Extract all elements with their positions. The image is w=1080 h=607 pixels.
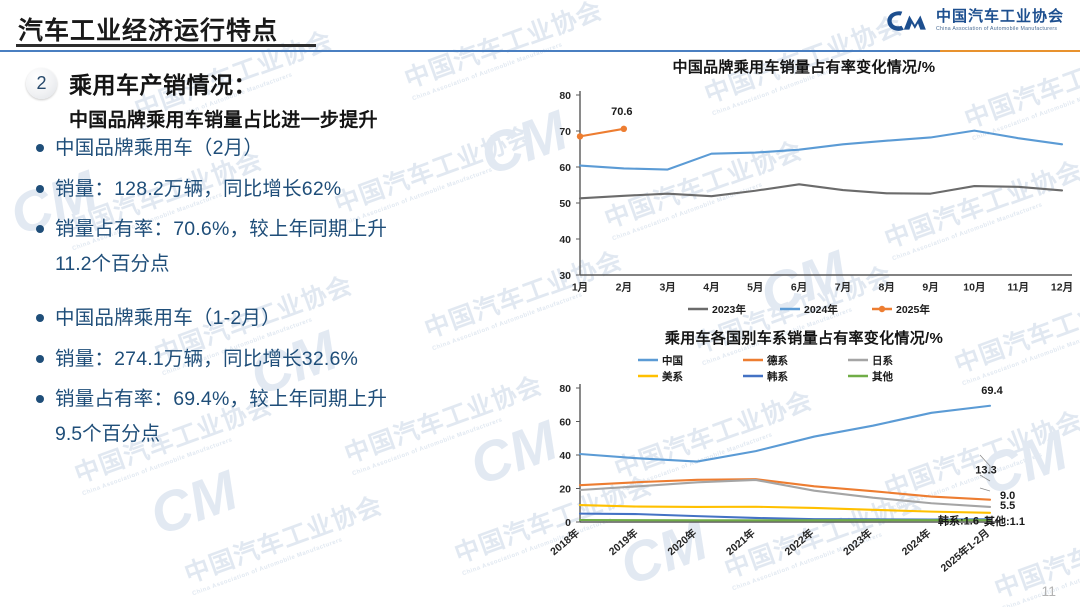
- header-rule-orange: [940, 50, 1080, 52]
- x-axis-tick-label: 7月: [835, 282, 851, 294]
- x-axis-tick-label: 2025年1-2月: [938, 526, 992, 574]
- x-axis-tick-label: 5月: [747, 282, 763, 294]
- heading-main: 乘用车产销情况：: [69, 66, 378, 100]
- x-axis-tick-label: 11月: [1007, 282, 1029, 294]
- bullet-dot-icon: [36, 144, 44, 152]
- x-axis-tick-label: 2020年: [665, 526, 700, 558]
- bullet-text: 销量：128.2万辆，同比增长62%: [55, 175, 341, 205]
- bullet-item: 中国品牌乘用车（1-2月）: [36, 304, 516, 334]
- y-axis-tick-label: 60: [559, 162, 571, 174]
- bullet-item: 中国品牌乘用车（2月）: [36, 134, 516, 164]
- bullet-continuation: 11.2个百分点: [55, 250, 516, 280]
- data-label: 其他:1.1: [984, 514, 1025, 528]
- chart-plot: 3040506070801月2月3月4月5月6月7月8月9月10月11月12月7…: [528, 77, 1080, 327]
- data-label: 13.3: [975, 465, 996, 477]
- bullet-dot-icon: [36, 395, 44, 403]
- legend-label-2025年: 2025年: [896, 303, 930, 316]
- data-label-leader: [980, 488, 990, 491]
- x-axis-tick-label: 10月: [963, 282, 985, 294]
- bullet-group-feb: 中国品牌乘用车（2月）销量：128.2万辆，同比增长62%销量占有率：70.6%…: [36, 134, 516, 291]
- x-axis-tick-label: 2019年: [606, 526, 641, 558]
- bullet-item: 销量：274.1万辆，同比增长32.6%: [36, 345, 516, 375]
- x-axis-tick-label: 12月: [1051, 282, 1073, 294]
- series-line-美系: [580, 505, 990, 513]
- chart-country-share: 乘用车各国别车系销量占有率变化情况/% 0204060802018年2019年2…: [528, 327, 1080, 578]
- bullet-continuation: 9.5个百分点: [55, 420, 516, 450]
- legend-label-其他: 其他: [872, 370, 893, 383]
- data-label: 韩系:1.6: [938, 513, 979, 527]
- y-axis-tick-label: 20: [559, 484, 571, 496]
- chart-plot: 0204060802018年2019年2020年2021年2022年2023年2…: [528, 348, 1080, 578]
- bullet-dot-icon: [36, 225, 44, 233]
- header-rule-blue: [0, 50, 940, 52]
- series-marker-2025年: [621, 126, 627, 132]
- brand-logo: 中国汽车工业协会 China Association of Automobile…: [885, 8, 1064, 34]
- x-axis-tick-label: 8月: [879, 282, 895, 294]
- x-axis-tick-label: 2023年: [840, 526, 875, 558]
- series-line-德系: [580, 479, 990, 500]
- y-axis-tick-label: 80: [559, 383, 571, 395]
- heading-sub: 中国品牌乘用车销量占比进一步提升: [69, 105, 378, 132]
- bullet-dot-icon: [36, 185, 44, 193]
- x-axis-tick-label: 2月: [616, 282, 632, 294]
- x-axis-tick-label: 2022年: [782, 526, 817, 558]
- x-axis-tick-label: 1月: [572, 282, 588, 294]
- bullet-text: 销量占有率：70.6%，较上年同期上升: [55, 215, 387, 245]
- legend-label-德系: 德系: [766, 354, 788, 367]
- series-line-2023年: [580, 184, 1062, 198]
- charts-column: 中国品牌乘用车销量占有率变化情况/% 3040506070801月2月3月4月5…: [528, 56, 1080, 607]
- bullet-item: 销量：128.2万辆，同比增长62%: [36, 175, 516, 205]
- heading-text-wrap: 乘用车产销情况： 中国品牌乘用车销量占比进一步提升: [69, 66, 378, 132]
- x-axis-tick-label: 2024年: [899, 526, 934, 558]
- brand-name-en: China Association of Automobile Manufact…: [936, 27, 1064, 32]
- data-label: 70.6: [611, 106, 632, 118]
- caam-logo-icon: [885, 8, 929, 34]
- series-marker-2025年: [577, 133, 583, 139]
- bullet-text: 中国品牌乘用车（2月）: [55, 134, 263, 164]
- step-number-badge: 2: [26, 68, 57, 99]
- bullet-text: 销量：274.1万辆，同比增长32.6%: [55, 345, 358, 375]
- chart-title: 中国品牌乘用车销量占有率变化情况/%: [528, 56, 1080, 77]
- x-axis-tick-label: 2021年: [723, 526, 758, 558]
- y-axis-tick-label: 30: [559, 270, 571, 282]
- page-number: 11: [1041, 583, 1056, 599]
- chart-legend: 中国德系日系美系韩系其他: [638, 354, 893, 383]
- bullet-group-jan-feb: 中国品牌乘用车（1-2月）销量：274.1万辆，同比增长32.6%销量占有率：6…: [36, 304, 516, 461]
- legend-label-日系: 日系: [872, 354, 893, 367]
- bullet-text: 销量占有率：69.4%，较上年同期上升: [55, 385, 387, 415]
- data-label: 69.4: [981, 385, 1003, 397]
- legend-label-中国: 中国: [662, 354, 683, 367]
- title-underline: [16, 44, 316, 47]
- brand-text: 中国汽车工业协会 China Association of Automobile…: [936, 9, 1064, 32]
- legend-label-2023年: 2023年: [712, 303, 746, 316]
- legend-marker-2025年: [879, 306, 885, 312]
- chart-canvas: 0204060802018年2019年2020年2021年2022年2023年2…: [528, 348, 1080, 578]
- chart-legend: 2023年2024年2025年: [688, 303, 930, 316]
- y-axis-tick-label: 40: [559, 450, 571, 462]
- chart-china-brand-share: 中国品牌乘用车销量占有率变化情况/% 3040506070801月2月3月4月5…: [528, 56, 1080, 327]
- y-axis-tick-label: 80: [559, 90, 571, 102]
- chart-title: 乘用车各国别车系销量占有率变化情况/%: [528, 327, 1080, 348]
- content-column: 2 乘用车产销情况： 中国品牌乘用车销量占比进一步提升 中国品牌乘用车（2月）销…: [0, 56, 528, 607]
- y-axis-tick-label: 0: [565, 517, 571, 529]
- x-axis-tick-label: 6月: [791, 282, 807, 294]
- series-line-中国: [580, 406, 990, 462]
- slide-header: 汽车工业经济运行特点 中国汽车工业协会 China Association of…: [0, 0, 1080, 52]
- y-axis-tick-label: 60: [559, 417, 571, 429]
- x-axis-tick-label: 2018年: [548, 526, 583, 558]
- x-axis-tick-label: 9月: [922, 282, 938, 294]
- y-axis-tick-label: 40: [559, 234, 571, 246]
- bullet-item: 销量占有率：69.4%，较上年同期上升: [36, 385, 516, 415]
- y-axis-tick-label: 50: [559, 198, 571, 210]
- y-axis-tick-label: 70: [559, 126, 571, 138]
- chart-canvas: 3040506070801月2月3月4月5月6月7月8月9月10月11月12月7…: [528, 77, 1080, 327]
- legend-label-美系: 美系: [662, 370, 683, 383]
- bullet-dot-icon: [36, 314, 44, 322]
- page-title: 汽车工业经济运行特点: [18, 11, 278, 47]
- section-heading: 2 乘用车产销情况： 中国品牌乘用车销量占比进一步提升: [26, 66, 378, 132]
- legend-label-韩系: 韩系: [767, 370, 788, 383]
- series-line-韩系: [580, 514, 990, 520]
- legend-label-2024年: 2024年: [804, 303, 838, 316]
- series-line-2025年: [580, 129, 624, 137]
- bullet-text: 中国品牌乘用车（1-2月）: [55, 304, 281, 334]
- bullet-dot-icon: [36, 355, 44, 363]
- x-axis-tick-label: 4月: [703, 282, 719, 294]
- series-line-2024年: [580, 131, 1062, 170]
- x-axis-tick-label: 3月: [659, 282, 675, 294]
- bullet-item: 销量占有率：70.6%，较上年同期上升: [36, 215, 516, 245]
- data-label: 5.5: [1000, 500, 1015, 512]
- series-line-日系: [580, 480, 990, 507]
- brand-name-cn: 中国汽车工业协会: [936, 9, 1064, 25]
